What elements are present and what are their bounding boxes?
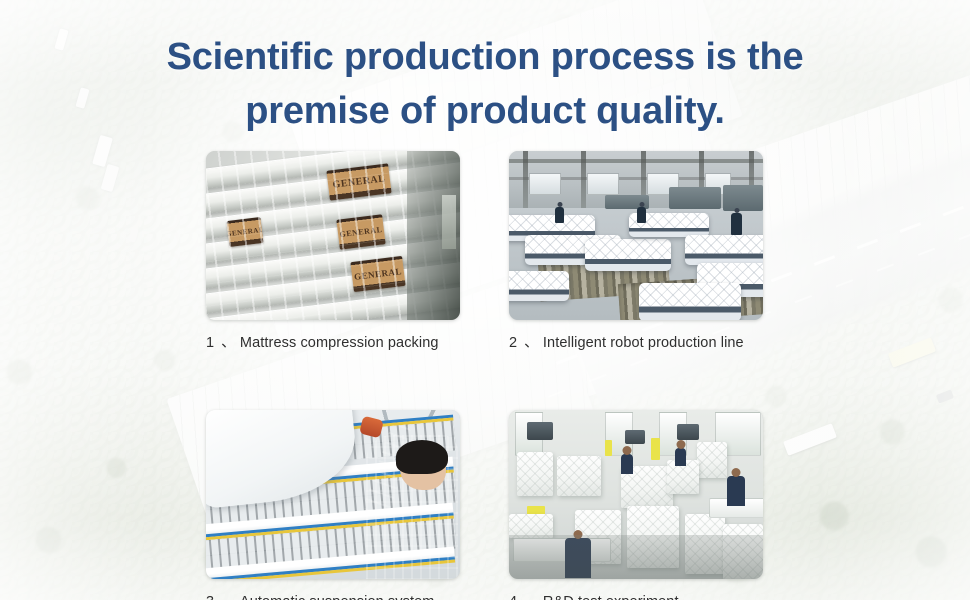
- caption-index-3: 3: [206, 594, 214, 600]
- gallery-item-4: 4、 R&D test experiment: [509, 410, 763, 600]
- photo-4-scene: [509, 410, 763, 579]
- photo-2-worker: [637, 207, 646, 223]
- process-gallery: 1、 Mattress compression packing: [206, 151, 763, 600]
- photo-4-sewing-machine: [677, 424, 699, 440]
- caption-separator-3: 、: [221, 594, 236, 600]
- photo-2-machine: [723, 185, 763, 211]
- photo-4-quilted-panel: [557, 456, 601, 496]
- caption-item-2: 2、 Intelligent robot production line: [509, 331, 763, 352]
- caption-index-4: 4: [509, 594, 517, 600]
- gallery-item-1: 1、 Mattress compression packing: [206, 151, 460, 352]
- photo-rd-test-experiment: [509, 410, 763, 579]
- caption-separator-4: 、: [524, 594, 539, 600]
- caption-item-1: 1、 Mattress compression packing: [206, 331, 460, 352]
- photo-4-sewing-machine: [527, 422, 553, 440]
- photo-4-worker: [675, 448, 686, 466]
- photo-4-worker: [727, 476, 745, 506]
- promo-banner: Scientific production process is the pre…: [0, 0, 970, 600]
- caption-item-4: 4、 R&D test experiment: [509, 590, 763, 600]
- page-title-line-2: premise of product quality.: [0, 84, 970, 138]
- photo-1-background-wall: [407, 151, 460, 320]
- page-title: Scientific production process is the pre…: [0, 30, 970, 138]
- photo-4-worker: [621, 454, 633, 474]
- gallery-item-3: 3、 Automatic suspension system: [206, 410, 460, 600]
- caption-separator-1: 、: [221, 335, 236, 351]
- photo-1-scene: [206, 151, 460, 320]
- gallery-row-1: 1、 Mattress compression packing: [206, 151, 763, 352]
- caption-text-4: R&D test experiment: [543, 594, 679, 600]
- caption-index-1: 1: [206, 335, 214, 351]
- caption-index-2: 2: [509, 335, 517, 351]
- gallery-row-2: 3、 Automatic suspension system: [206, 410, 763, 600]
- photo-automatic-suspension-system: [206, 410, 460, 579]
- page-title-line-1: Scientific production process is the: [0, 30, 970, 84]
- photo-2-scene: [509, 151, 763, 320]
- photo-4-quilted-panel: [697, 442, 727, 478]
- photo-mattress-compression-packing: [206, 151, 460, 320]
- photo-2-machine: [669, 187, 721, 209]
- photo-4-quilted-panel: [517, 452, 553, 496]
- caption-text-2: Intelligent robot production line: [543, 335, 744, 351]
- gallery-item-2: 2、 Intelligent robot production line: [509, 151, 763, 352]
- photo-4-sewing-machine: [625, 430, 645, 444]
- photo-2-worker: [555, 207, 564, 223]
- caption-text-3: Automatic suspension system: [240, 594, 435, 600]
- caption-item-3: 3、 Automatic suspension system: [206, 590, 460, 600]
- caption-text-1: Mattress compression packing: [240, 335, 439, 351]
- photo-3-scene: [206, 410, 460, 579]
- photo-4-floor: [509, 535, 763, 579]
- caption-separator-2: 、: [524, 335, 539, 351]
- photo-intelligent-robot-production-line: [509, 151, 763, 320]
- photo-2-worker: [731, 213, 742, 235]
- photo-3-worker-hair: [396, 440, 448, 474]
